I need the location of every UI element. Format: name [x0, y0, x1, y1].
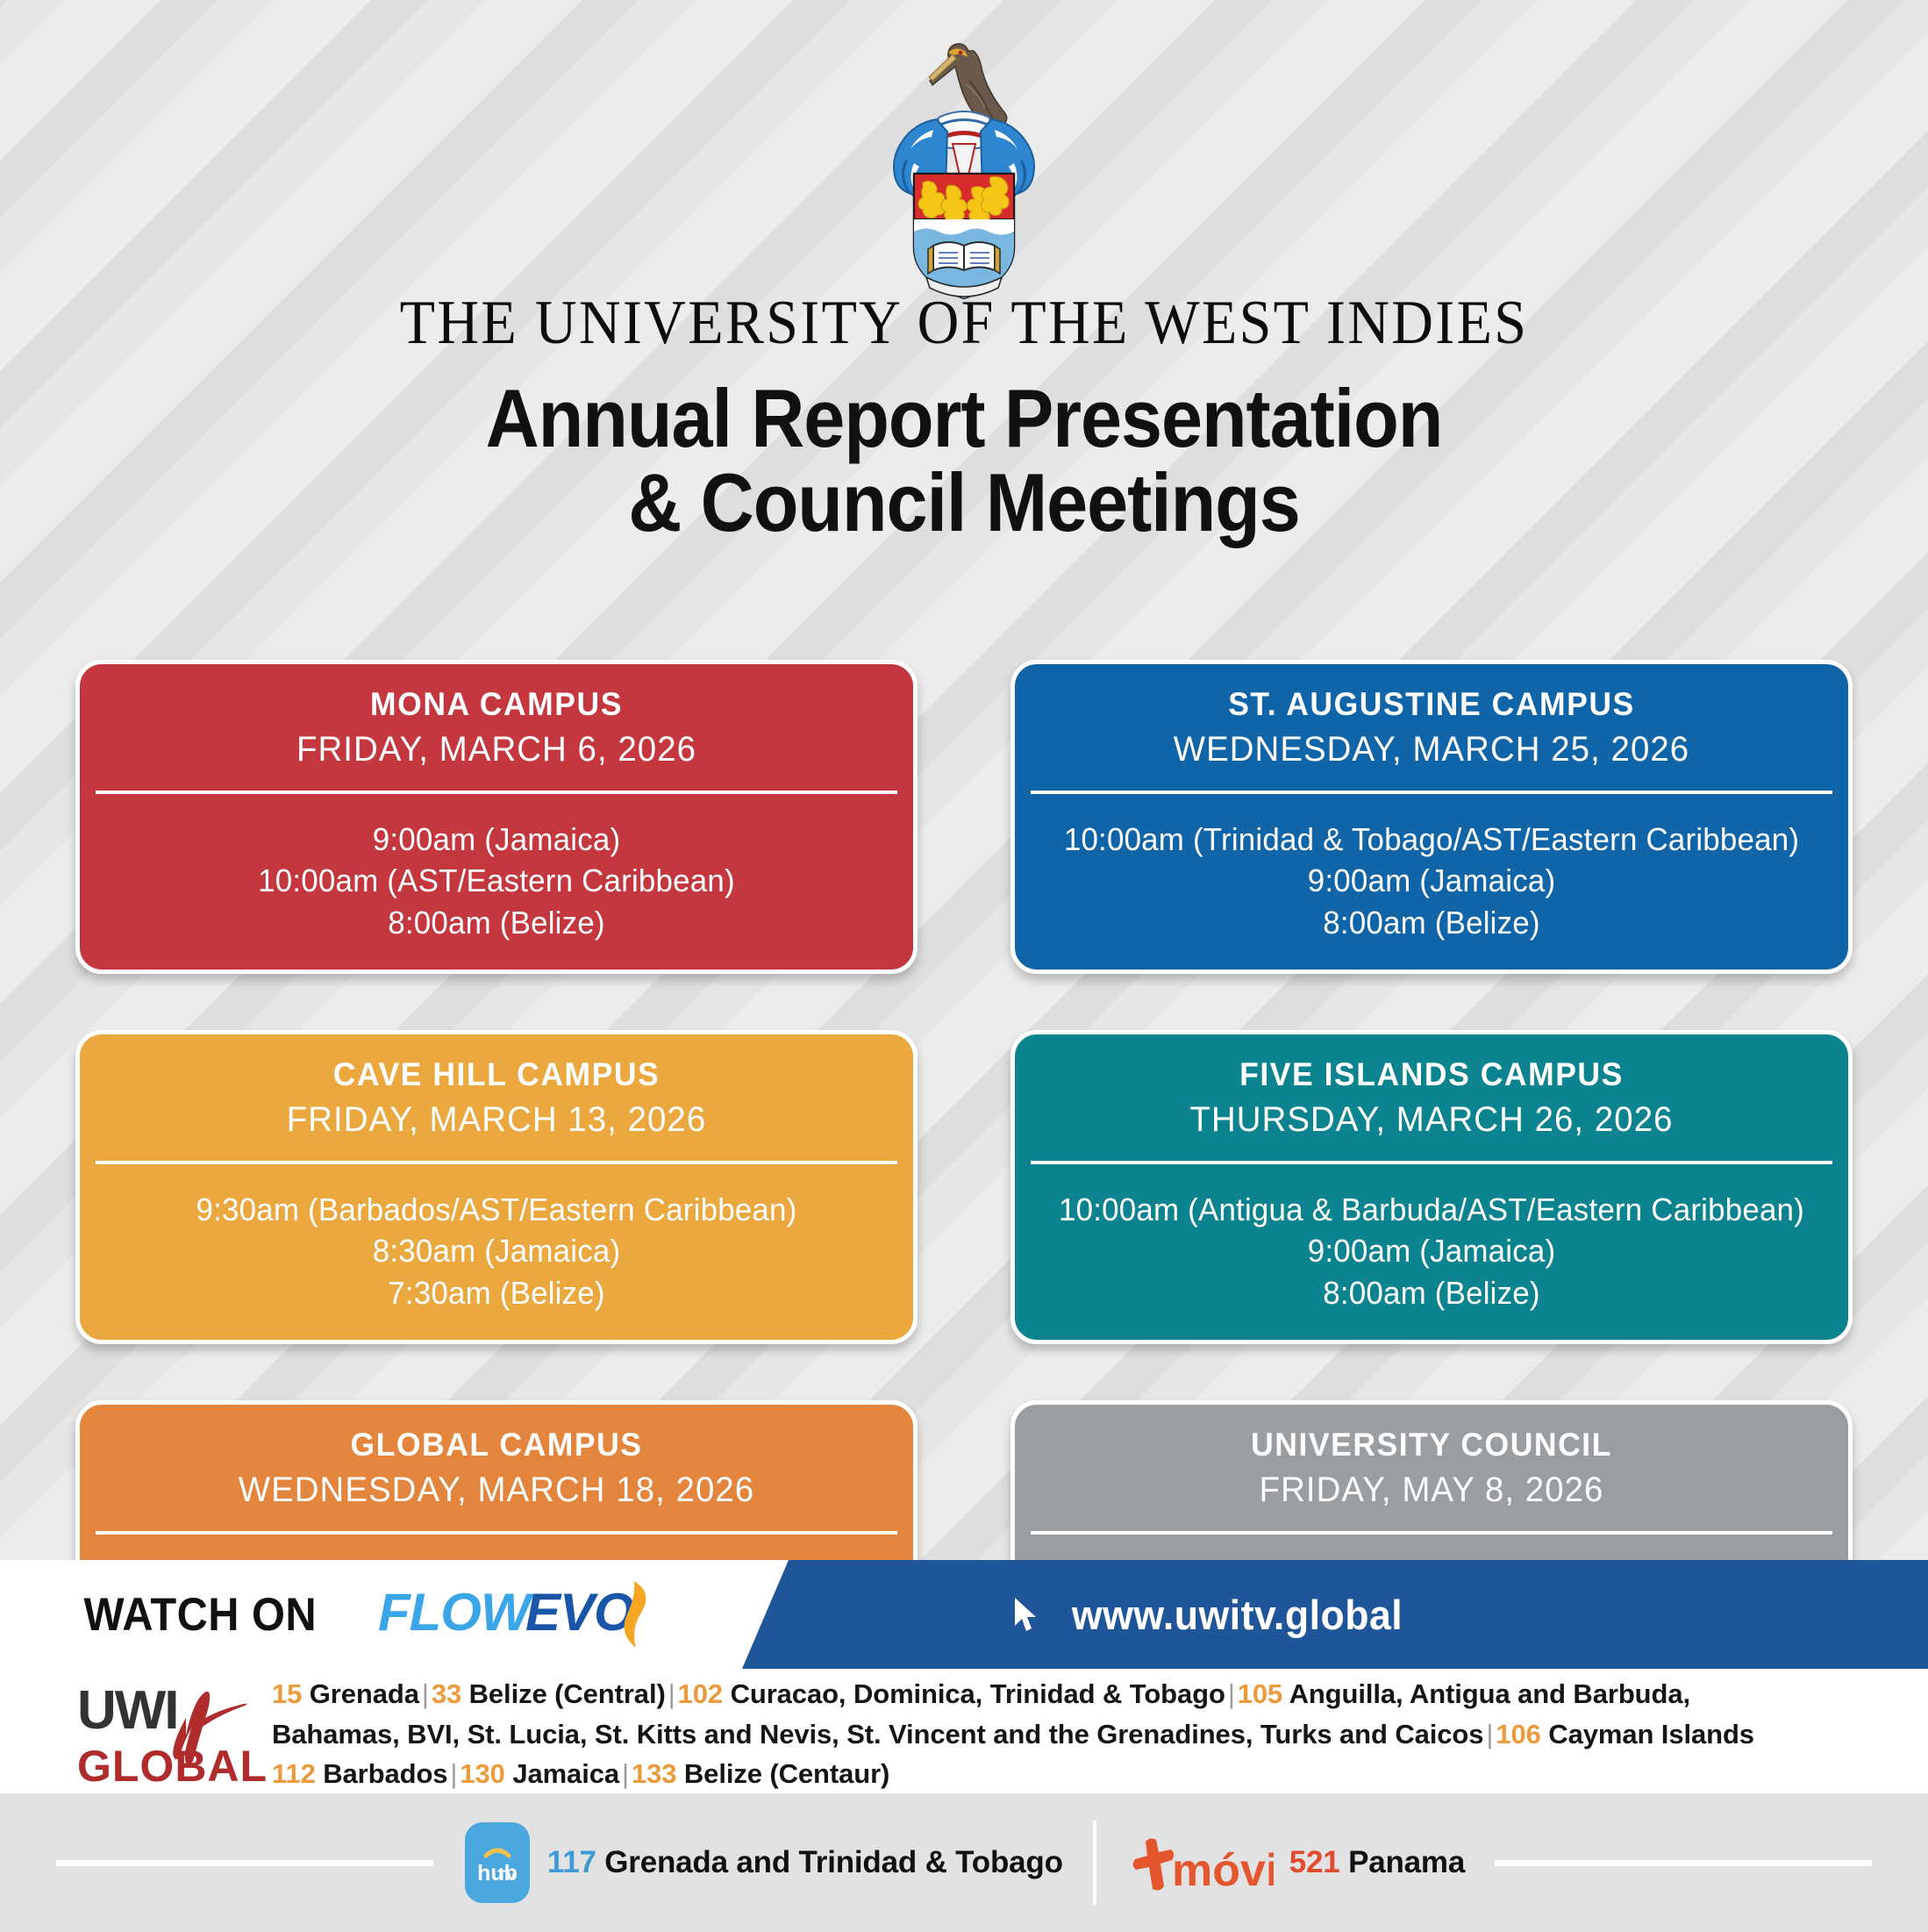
crest-container: [0, 32, 1928, 304]
poster-footer: WATCH ON FLOW EVO www.uwitv.global UWI: [0, 1560, 1928, 1932]
meeting-card-st-augustine: ST. AUGUSTINE CAMPUSWEDNESDAY, MARCH 25,…: [1010, 660, 1853, 974]
channel-name: Anguilla, Antigua and Barbuda,: [1289, 1678, 1690, 1709]
card-date: THURSDAY, MARCH 26, 2026: [1050, 1098, 1813, 1141]
card-header: ST. AUGUSTINE CAMPUSWEDNESDAY, MARCH 25,…: [1031, 664, 1832, 794]
university-name: THE UNIVERSITY OF THE WEST INDIES: [68, 288, 1860, 359]
card-title: CAVE HILL CAMPUS: [115, 1055, 878, 1094]
svg-text:UWI: UWI: [77, 1680, 178, 1741]
uwitv-global-logo-icon: UWI GLOBAL: [75, 1674, 277, 1788]
hubtv-logo: hub TV: [463, 1821, 532, 1905]
channel-separator: |: [447, 1758, 460, 1789]
channel-name: Grenada: [310, 1678, 419, 1709]
footer-lower-row: UWI GLOBAL 15 Grenada|33 Belize (Central…: [0, 1669, 1928, 1793]
website-url[interactable]: www.uwitv.global: [1072, 1591, 1403, 1639]
website-band[interactable]: www.uwitv.global: [742, 1560, 1928, 1669]
page-title: Annual Report Presentation & Council Mee…: [96, 376, 1832, 545]
poster-canvas: THE UNIVERSITY OF THE WEST INDIES Annual…: [0, 0, 1928, 1932]
channel-number: 106: [1496, 1719, 1548, 1750]
channel-name: Jamaica: [512, 1758, 619, 1789]
card-time-line: 7:30am (Belize): [110, 1272, 884, 1314]
channel-name: Barbados: [323, 1758, 447, 1789]
watch-on-row: WATCH ON FLOW EVO: [0, 1560, 754, 1669]
card-header: GLOBAL CAMPUSWEDNESDAY, MARCH 18, 2026: [96, 1405, 897, 1535]
movil-label: 521 Panama: [1289, 1845, 1465, 1880]
hubtv-entry: hub TV 117 Grenada and Trinidad & Tobago: [433, 1821, 1093, 1905]
card-time-line: 9:00am (Jamaica): [1045, 1230, 1819, 1272]
card-time-line: 8:00am (Belize): [1045, 902, 1819, 944]
channel-separator: |: [1225, 1678, 1238, 1709]
card-title: ST. AUGUSTINE CAMPUS: [1050, 685, 1813, 724]
channel-number: 133: [632, 1758, 684, 1789]
hubtv-logo-icon: hub TV: [463, 1821, 532, 1905]
meeting-cards-grid: MONA CAMPUSFRIDAY, MARCH 6, 20269:00am (…: [75, 660, 1853, 1715]
card-date: FRIDAY, MARCH 13, 2026: [115, 1098, 878, 1141]
card-header: FIVE ISLANDS CAMPUSTHURSDAY, MARCH 26, 2…: [1031, 1034, 1832, 1164]
channel-listing: 15 Grenada|33 Belize (Central)|102 Curac…: [272, 1669, 1928, 1794]
card-times: 10:00am (Trinidad & Tobago/AST/Eastern C…: [1031, 794, 1832, 970]
movil-channel-name: Panama: [1348, 1845, 1465, 1879]
card-time-line: 9:30am (Barbados/AST/Eastern Caribbean): [110, 1189, 884, 1231]
movil-channel-number: 521: [1289, 1845, 1340, 1879]
channel-number: 105: [1238, 1678, 1289, 1709]
card-time-line: 10:00am (AST/Eastern Caribbean): [110, 860, 884, 902]
card-title: FIVE ISLANDS CAMPUS: [1050, 1055, 1813, 1094]
card-times: 9:30am (Barbados/AST/Eastern Caribbean)8…: [96, 1164, 897, 1341]
svg-text:EVO: EVO: [525, 1583, 634, 1642]
card-time-line: 8:30am (Jamaica): [110, 1230, 884, 1272]
svg-text:TV: TV: [497, 1867, 517, 1884]
flow-evo-logo-icon: FLOW EVO: [378, 1574, 668, 1655]
channel-number: 33: [432, 1678, 469, 1709]
watch-on-label: WATCH ON: [84, 1588, 318, 1642]
channel-line: 15 Grenada|33 Belize (Central)|102 Curac…: [272, 1674, 1875, 1714]
movil-entry: móvil 521 Panama: [1096, 1821, 1495, 1905]
card-title: GLOBAL CAMPUS: [115, 1426, 878, 1464]
meeting-card-five-islands: FIVE ISLANDS CAMPUSTHURSDAY, MARCH 26, 2…: [1010, 1030, 1853, 1344]
uwi-coat-of-arms-icon: [846, 32, 1082, 304]
channel-name: Cayman Islands: [1548, 1719, 1754, 1750]
flow-evo-logo: FLOW EVO: [378, 1574, 668, 1655]
card-time-line: 9:00am (Jamaica): [1045, 860, 1819, 902]
channel-number: 15: [272, 1678, 310, 1709]
provider-strip: hub TV 117 Grenada and Trinidad & Tobago: [0, 1793, 1928, 1932]
card-time-line: 8:00am (Belize): [110, 902, 884, 944]
meeting-card-mona: MONA CAMPUSFRIDAY, MARCH 6, 20269:00am (…: [75, 660, 918, 974]
card-header: MONA CAMPUSFRIDAY, MARCH 6, 2026: [96, 664, 897, 794]
channel-separator: |: [419, 1678, 432, 1709]
card-date: WEDNESDAY, MARCH 18, 2026: [115, 1468, 878, 1512]
card-title: UNIVERSITY COUNCIL: [1050, 1426, 1813, 1464]
hubtv-channel-number: 117: [547, 1845, 596, 1879]
channel-name: Belize (Centaur): [684, 1758, 889, 1789]
channel-number: 102: [678, 1678, 731, 1709]
card-header: CAVE HILL CAMPUSFRIDAY, MARCH 13, 2026: [96, 1034, 897, 1164]
channel-line: 112 Barbados|130 Jamaica|133 Belize (Cen…: [272, 1754, 1875, 1794]
cursor-arrow-icon: [1012, 1596, 1039, 1633]
card-title: MONA CAMPUS: [115, 685, 878, 724]
channel-name: Bahamas, BVI, St. Lucia, St. Kitts and N…: [272, 1719, 1483, 1750]
card-header: UNIVERSITY COUNCILFRIDAY, MAY 8, 2026: [1031, 1405, 1832, 1535]
card-time-line: 10:00am (Trinidad & Tobago/AST/Eastern C…: [1045, 819, 1819, 861]
channel-name: Belize (Central): [469, 1678, 666, 1709]
svg-text:GLOBAL: GLOBAL: [77, 1742, 268, 1788]
card-date: WEDNESDAY, MARCH 25, 2026: [1050, 727, 1813, 771]
card-date: FRIDAY, MARCH 6, 2026: [115, 727, 878, 771]
card-time-line: 10:00am (Antigua & Barbuda/AST/Eastern C…: [1045, 1189, 1819, 1231]
channel-name: Curacao, Dominica, Trinidad & Tobago: [731, 1678, 1225, 1709]
card-time-line: 9:00am (Jamaica): [110, 819, 884, 861]
channel-separator: |: [619, 1758, 632, 1789]
svg-text:FLOW: FLOW: [378, 1583, 534, 1642]
card-times: 10:00am (Antigua & Barbuda/AST/Eastern C…: [1031, 1164, 1832, 1341]
event-title-line-2: & Council Meetings: [96, 461, 1832, 545]
channel-number: 112: [272, 1758, 323, 1789]
card-times: 9:00am (Jamaica)10:00am (AST/Eastern Car…: [96, 794, 897, 970]
meeting-card-cave-hill: CAVE HILL CAMPUSFRIDAY, MARCH 13, 20269:…: [75, 1030, 918, 1344]
poster-header: THE UNIVERSITY OF THE WEST INDIES Annual…: [0, 0, 1928, 545]
uwitv-global-logo: UWI GLOBAL: [0, 1669, 272, 1788]
event-title-line-1: Annual Report Presentation: [486, 372, 1443, 464]
hubtv-label: 117 Grenada and Trinidad & Tobago: [547, 1845, 1063, 1880]
movil-plus-icon: móvil: [1126, 1821, 1274, 1905]
channel-line: Bahamas, BVI, St. Lucia, St. Kitts and N…: [272, 1714, 1875, 1755]
channel-separator: |: [666, 1678, 678, 1709]
channel-number: 130: [460, 1758, 512, 1789]
svg-text:móvil: móvil: [1172, 1845, 1274, 1896]
hubtv-channel-name: Grenada and Trinidad & Tobago: [604, 1845, 1062, 1879]
channel-separator: |: [1483, 1719, 1496, 1750]
card-date: FRIDAY, MAY 8, 2026: [1050, 1468, 1813, 1512]
movil-logo: móvil: [1126, 1821, 1274, 1905]
strip-rule-left: [56, 1860, 433, 1866]
card-time-line: 8:00am (Belize): [1045, 1272, 1819, 1314]
strip-rule-right: [1495, 1860, 1872, 1866]
